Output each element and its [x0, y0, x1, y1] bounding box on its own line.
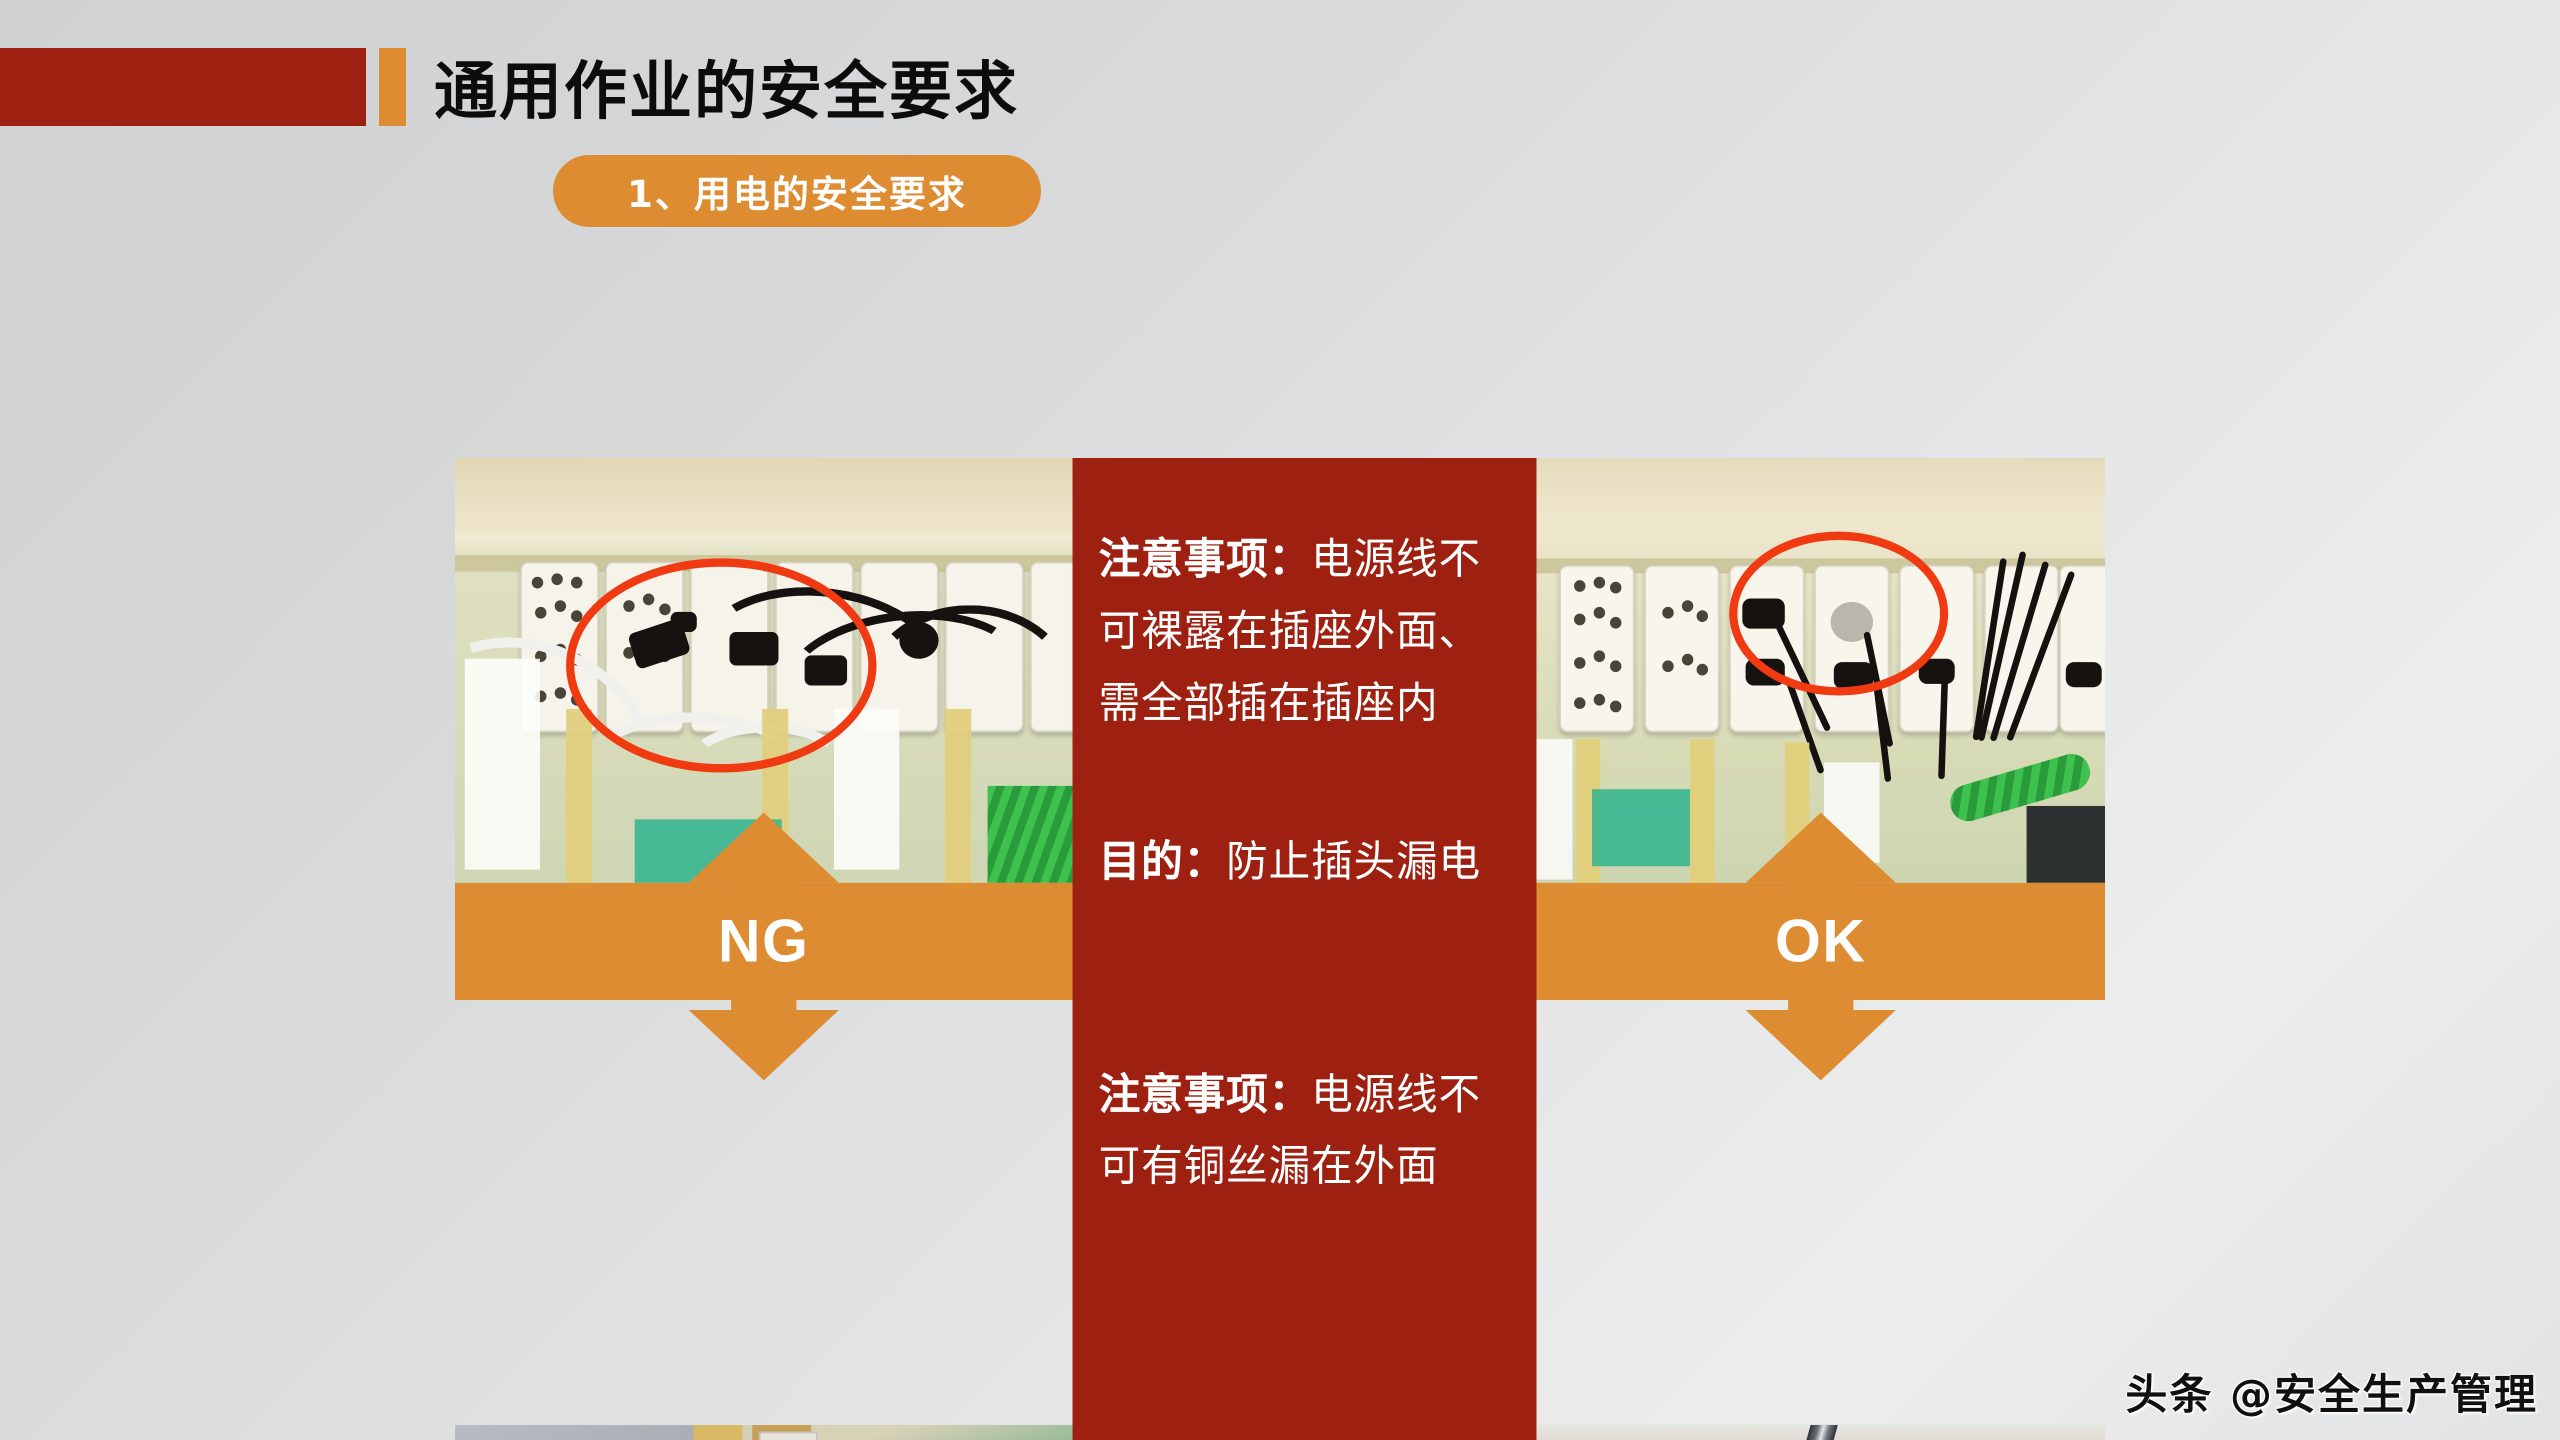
up-arrow-ok [1746, 813, 1896, 883]
note-text-2: 防止插头漏电 [1226, 838, 1481, 888]
section-pill: 1、用电的安全要求 [553, 155, 1041, 227]
watermark: 头条 @安全生产管理 [2125, 1361, 2538, 1422]
note-label-2: 目的： [1099, 838, 1226, 888]
up-arrow-ng [689, 813, 839, 883]
header-red-bar [0, 48, 366, 126]
notes-panel: 注意事项：电源线不可裸露在插座外面、需全部插在插座内 目的：防止插头漏电 注意事… [1073, 458, 1537, 1440]
section-pill-label: 1、用电的安全要求 [627, 164, 967, 218]
down-arrow-ok [1746, 1010, 1896, 1080]
ng-column: NG [455, 458, 1073, 1440]
page-title: 通用作业的安全要求 [434, 40, 1019, 132]
comparison-block: NG 注意事项：电源线不可裸露在插座外面、需全部插在插座内 目的：防止插头漏电 … [455, 458, 2105, 1440]
annotation-ellipse-ng-top [566, 558, 876, 772]
workbench-exposed-copper-wire-photo [455, 1425, 1073, 1440]
ng-label: NG [718, 906, 809, 976]
slide-root: 通用作业的安全要求 1、用电的安全要求 [0, 0, 2560, 1440]
ok-band: OK [1536, 883, 2105, 1000]
down-arrow-ng [689, 1010, 839, 1080]
ok-column: OK [1536, 458, 2105, 1440]
note-block-3: 注意事项：电源线不可有铜丝漏在外面 [1099, 1060, 1520, 1204]
intact-cable-on-green-mat-photo [1536, 1425, 2105, 1440]
header-orange-tab [379, 48, 406, 126]
ok-label: OK [1775, 906, 1866, 976]
note-label-3: 注意事项： [1099, 1070, 1311, 1120]
note-block-2: 目的：防止插头漏电 [1099, 828, 1520, 900]
ng-band: NG [455, 883, 1073, 1000]
note-label-1: 注意事项： [1099, 535, 1311, 585]
note-block-1: 注意事项：电源线不可裸露在插座外面、需全部插在插座内 [1099, 525, 1520, 741]
annotation-ellipse-ok-top [1729, 532, 1948, 696]
